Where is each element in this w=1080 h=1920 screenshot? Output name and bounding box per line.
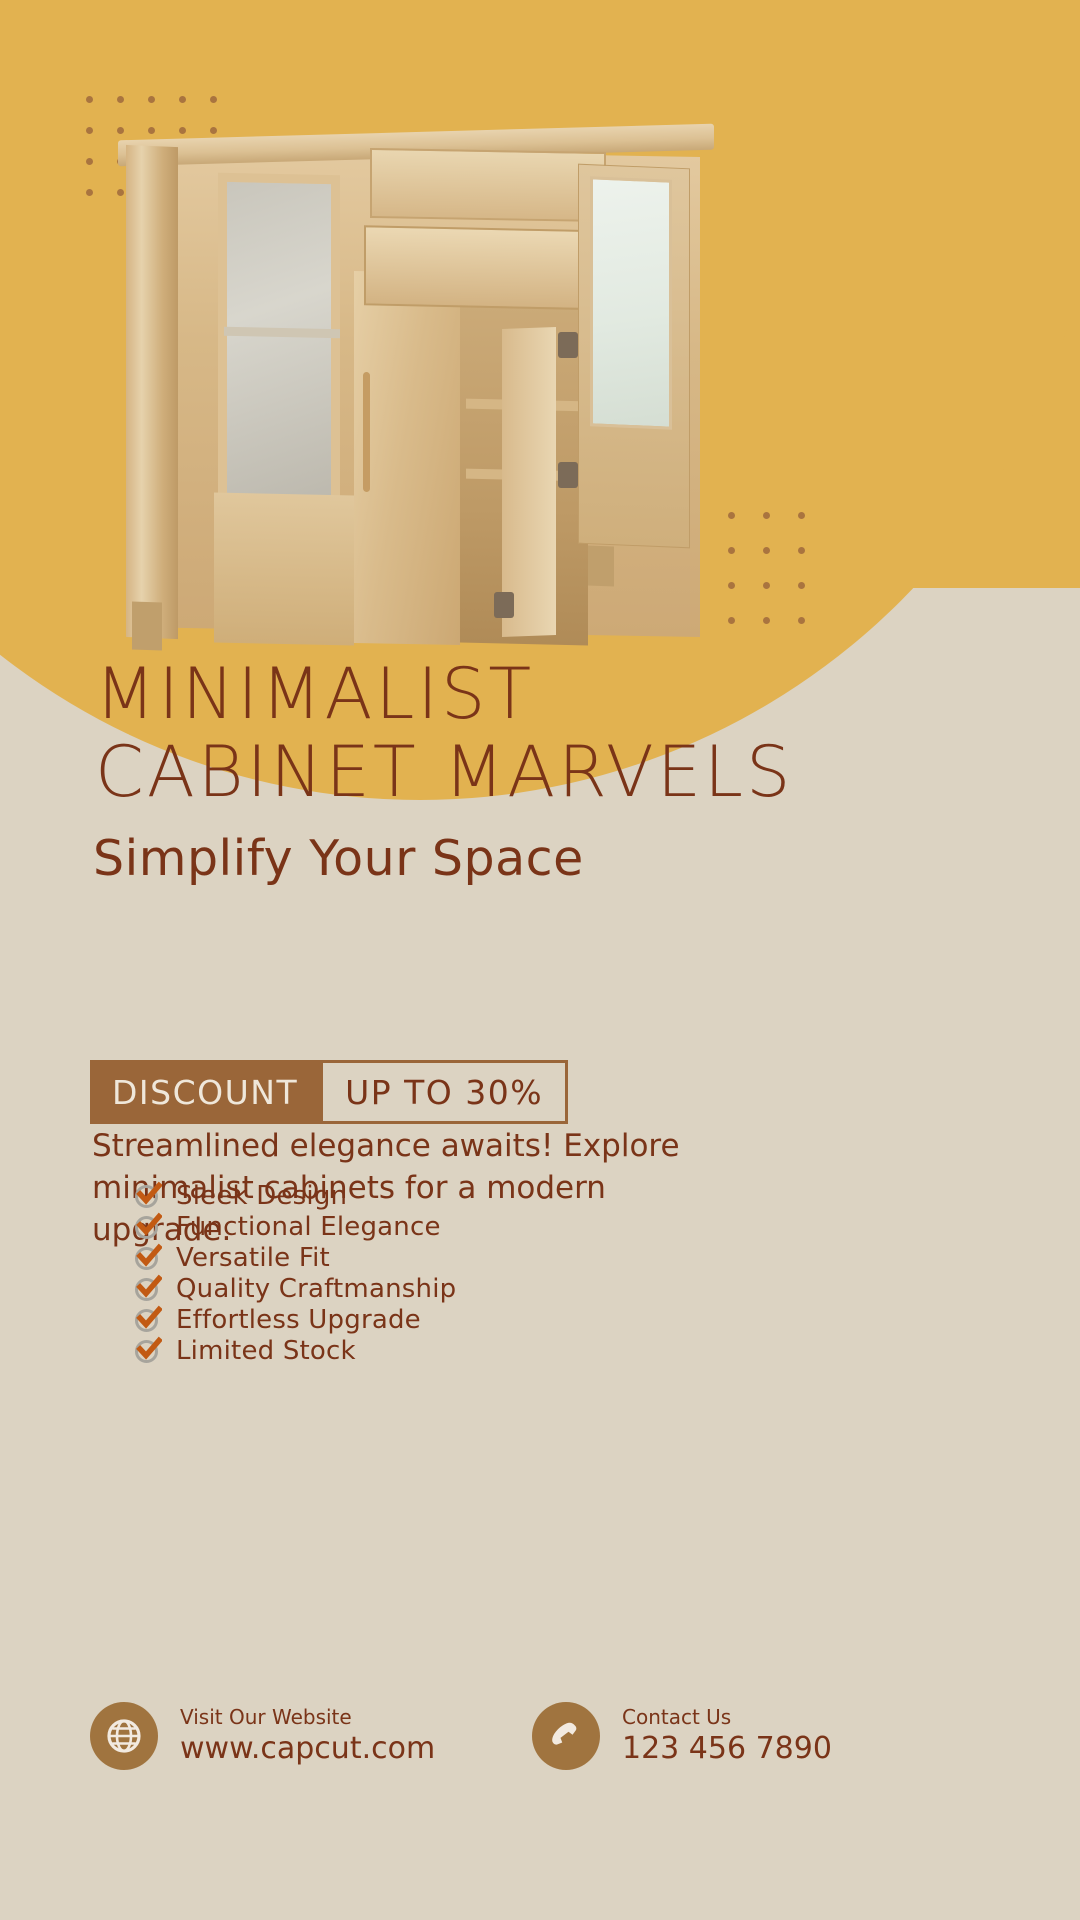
cabinet-foot-right <box>588 546 614 587</box>
check-circle-icon <box>133 1274 162 1303</box>
cabinet-hinge-top <box>558 332 578 358</box>
cabinet-foot-left <box>132 601 162 650</box>
website-caption: Visit Our Website <box>180 1704 435 1730</box>
feature-list-item: Sleek Design <box>133 1180 456 1211</box>
hero-cabinet-image <box>118 132 758 652</box>
footer-phone[interactable]: Contact Us 123 456 7890 <box>532 1702 832 1770</box>
phone-caption: Contact Us <box>622 1704 832 1730</box>
feature-list-item-label: Versatile Fit <box>176 1243 330 1273</box>
decorative-dot <box>86 158 93 165</box>
feature-list-item: Limited Stock <box>133 1335 456 1366</box>
cabinet-mirror-glass <box>590 176 672 429</box>
poster-footer: Visit Our Website www.capcut.com Contact… <box>0 1690 1080 1830</box>
cabinet-glass-door <box>218 173 340 506</box>
cabinet-drawer-top <box>370 148 606 222</box>
website-value[interactable]: www.capcut.com <box>180 1730 435 1768</box>
decorative-dot <box>763 582 770 589</box>
feature-list-item-label: Sleek Design <box>176 1181 347 1211</box>
globe-icon <box>90 1702 158 1770</box>
decorative-dot <box>798 547 805 554</box>
check-circle-icon <box>133 1181 162 1210</box>
decorative-dot <box>86 189 93 196</box>
phone-icon <box>532 1702 600 1770</box>
check-circle-icon <box>133 1243 162 1272</box>
decorative-dot <box>763 512 770 519</box>
poster-canvas: MINIMALIST CABINET MARVELS Simplify Your… <box>0 0 1080 1920</box>
check-circle-icon <box>133 1336 162 1365</box>
footer-website[interactable]: Visit Our Website www.capcut.com <box>90 1702 435 1770</box>
cabinet-hinge-mid <box>558 462 578 488</box>
discount-label: DISCOUNT <box>90 1060 320 1124</box>
cabinet-hinge-bottom <box>494 592 514 618</box>
decorative-dot <box>763 617 770 624</box>
feature-list-item: Versatile Fit <box>133 1242 456 1273</box>
feature-list-item-label: Limited Stock <box>176 1336 356 1366</box>
decorative-dot <box>763 547 770 554</box>
decorative-dot <box>210 96 217 103</box>
decorative-dot <box>86 96 93 103</box>
decorative-dot <box>86 127 93 134</box>
page-subtitle: Simplify Your Space <box>93 830 584 887</box>
check-circle-icon <box>133 1212 162 1241</box>
feature-list-item-label: Effortless Upgrade <box>176 1305 421 1335</box>
decorative-dot <box>798 617 805 624</box>
cabinet-door-handle <box>363 372 370 492</box>
decorative-dot <box>798 512 805 519</box>
cabinet-lower-left-door <box>214 493 354 646</box>
decorative-dot <box>148 96 155 103</box>
check-circle-icon <box>133 1305 162 1334</box>
feature-list-item-label: Functional Elegance <box>176 1212 441 1242</box>
feature-list-item: Effortless Upgrade <box>133 1304 456 1335</box>
decorative-dot <box>179 96 186 103</box>
cabinet-left-side-panel <box>126 145 178 639</box>
cabinet-open-door-inner <box>502 327 556 637</box>
phone-value[interactable]: 123 456 7890 <box>622 1730 832 1768</box>
page-title: MINIMALIST CABINET MARVELS <box>95 655 995 811</box>
feature-list: Sleek DesignFunctional EleganceVersatile… <box>133 1180 456 1366</box>
discount-badge: DISCOUNT UP TO 30% <box>90 1060 568 1124</box>
decorative-dot <box>117 96 124 103</box>
feature-list-item: Functional Elegance <box>133 1211 456 1242</box>
feature-list-item-label: Quality Craftmanship <box>176 1274 456 1304</box>
decorative-dot <box>798 582 805 589</box>
discount-value: UP TO 30% <box>320 1060 568 1124</box>
feature-list-item: Quality Craftmanship <box>133 1273 456 1304</box>
